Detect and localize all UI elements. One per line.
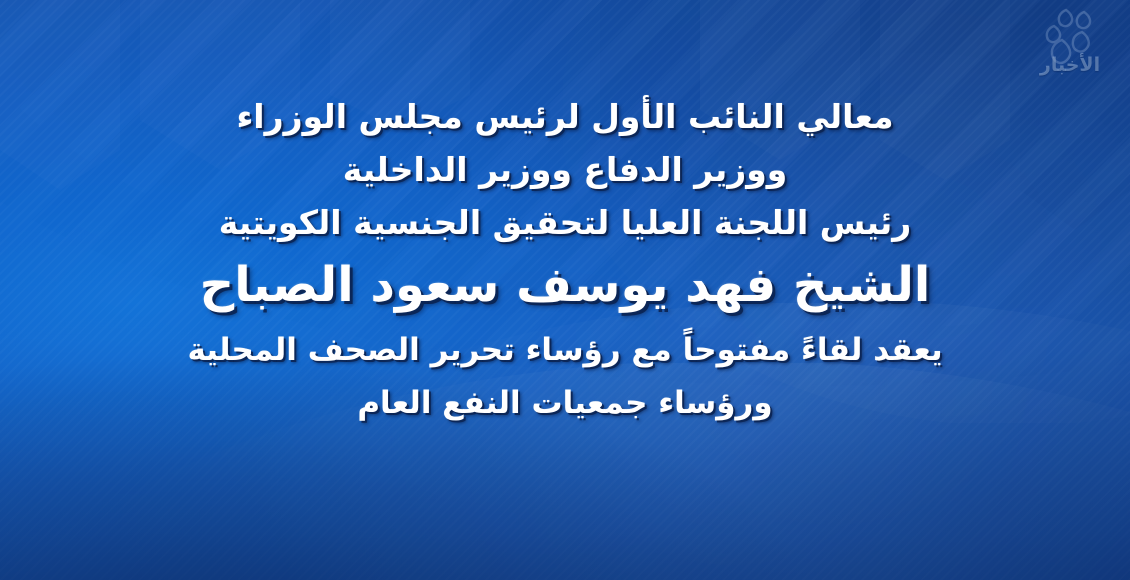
- announcement-text-block: معالي النائب الأول لرئيس مجلس الوزراء وو…: [0, 0, 1130, 580]
- announcement-card: الأخبار معالي النائب الأول لرئيس مجلس ال…: [0, 0, 1130, 580]
- event-line-2: ورؤساء جمعيات النفع العام: [357, 388, 772, 419]
- person-name: الشيخ فهد يوسف سعود الصباح: [200, 261, 931, 309]
- role-line-3: رئيس اللجنة العليا لتحقيق الجنسية الكويت…: [219, 206, 912, 239]
- role-line-2: ووزير الدفاع ووزير الداخلية: [343, 153, 787, 186]
- event-line-1: يعقد لقاءً مفتوحاً مع رؤساء تحرير الصحف …: [187, 335, 942, 366]
- role-line-1: معالي النائب الأول لرئيس مجلس الوزراء: [236, 100, 893, 133]
